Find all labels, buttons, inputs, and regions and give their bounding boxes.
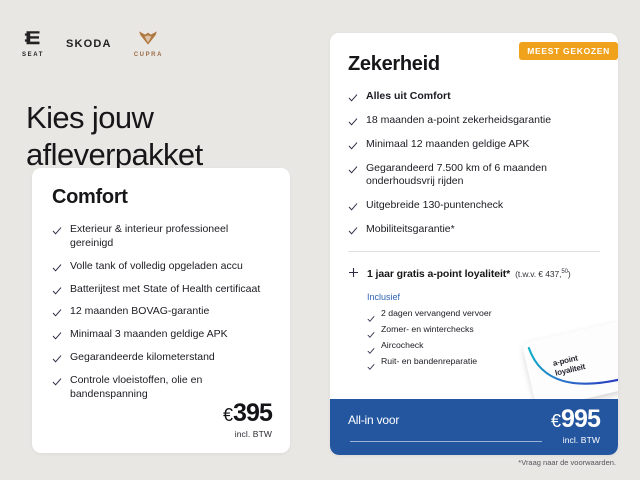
comfort-title: Comfort: [52, 186, 270, 209]
loyalty-value-suffix: ): [568, 269, 571, 279]
cupra-logo: CUPRA: [134, 30, 163, 58]
loyalty-value: (t.w.v. € 437,50): [515, 269, 570, 279]
zekerheid-feature-text: 18 maanden a-point zekerheidsgarantie: [366, 114, 551, 128]
comfort-feature-text: Volle tank of volledig opgeladen accu: [70, 260, 243, 274]
check-icon: [348, 117, 358, 127]
check-icon: [348, 165, 358, 175]
list-item: Gegarandeerde kilometerstand: [52, 351, 270, 365]
comfort-feature-text: Controle vloeistoffen, olie en bandenspa…: [70, 374, 270, 402]
list-item: Aircocheck: [367, 340, 600, 351]
check-icon: [52, 263, 62, 273]
check-icon: [367, 310, 375, 318]
skoda-logo-label: SKODA: [66, 39, 112, 50]
check-icon: [52, 331, 62, 341]
cupra-logo-icon: [138, 30, 158, 50]
all-in-label: All-in voor: [348, 413, 399, 427]
loyalty-title: 1 jaar gratis a-point loyaliteit*: [367, 268, 510, 280]
list-item: Uitgebreide 130-puntencheck: [348, 199, 600, 213]
zekerheid-package-card[interactable]: MEEST GEKOZEN Zekerheid Alles uit Comfor…: [330, 33, 618, 455]
included-item-text: Ruit- en bandenreparatie: [381, 356, 477, 367]
footer-inner: All-in voor €995 incl. BTW: [330, 399, 618, 455]
comfort-feature-text: Gegarandeerde kilometerstand: [70, 351, 215, 365]
included-item-text: Zomer- en winterchecks: [381, 324, 474, 335]
seat-logo: SEAT: [22, 30, 44, 58]
list-item: 18 maanden a-point zekerheidsgarantie: [348, 114, 600, 128]
list-item: Exterieur & interieur professioneel gere…: [52, 223, 270, 251]
comfort-price-amount: 395: [233, 399, 272, 427]
brand-logo-row: SEAT SKODA CUPRA: [22, 30, 163, 58]
included-list: 2 dagen vervangend vervoer Zomer- en win…: [367, 308, 600, 367]
comfort-feature-text: Batterijtest met State of Health certifi…: [70, 283, 260, 297]
check-icon: [348, 93, 358, 103]
zekerheid-card-body: Zekerheid Alles uit Comfort 18 maanden a…: [330, 33, 618, 367]
included-item-text: Aircocheck: [381, 340, 424, 351]
check-icon: [348, 202, 358, 212]
seat-logo-label: SEAT: [22, 52, 44, 58]
check-icon: [367, 358, 375, 366]
zekerheid-feature-text: Gegarandeerd 7.500 km of 6 maanden onder…: [366, 162, 600, 190]
included-label: Inclusief: [367, 292, 600, 302]
check-icon: [52, 226, 62, 236]
currency-symbol: €: [223, 405, 233, 425]
check-icon: [52, 286, 62, 296]
list-item: Gegarandeerd 7.500 km of 6 maanden onder…: [348, 162, 600, 190]
zekerheid-price-amount: 995: [561, 405, 600, 433]
included-block: Inclusief 2 dagen vervangend vervoer Zom…: [367, 292, 600, 367]
check-icon: [52, 308, 62, 318]
list-item: Mobiliteitsgarantie*: [348, 223, 600, 237]
currency-symbol: €: [551, 411, 561, 431]
list-item: Zomer- en winterchecks: [367, 324, 600, 335]
zekerheid-feature-text: Minimaal 12 maanden geldige APK: [366, 138, 529, 152]
check-icon: [348, 226, 358, 236]
included-item-text: 2 dagen vervangend vervoer: [381, 308, 492, 319]
zekerheid-price-note: incl. BTW: [551, 435, 600, 445]
zekerheid-feature-text: Mobiliteitsgarantie*: [366, 223, 455, 237]
comfort-feature-text: 12 maanden BOVAG-garantie: [70, 305, 209, 319]
comfort-feature-list: Exterieur & interieur professioneel gere…: [52, 223, 270, 402]
comfort-price-block: €395 incl. BTW: [223, 401, 272, 439]
comfort-package-card[interactable]: Comfort Exterieur & interieur profession…: [32, 168, 290, 453]
cupra-logo-label: CUPRA: [134, 52, 163, 58]
check-icon: [52, 377, 62, 387]
plus-icon: [348, 265, 359, 276]
comfort-price-note: incl. BTW: [223, 429, 272, 439]
skoda-logo: SKODA: [66, 39, 112, 50]
list-item: Volle tank of volledig opgeladen accu: [52, 260, 270, 274]
status-badge: MEEST GEKOZEN: [519, 42, 618, 60]
list-item: 12 maanden BOVAG-garantie: [52, 305, 270, 319]
list-item: 2 dagen vervangend vervoer: [367, 308, 600, 319]
comfort-card-body: Comfort Exterieur & interieur profession…: [32, 168, 290, 402]
list-item: Controle vloeistoffen, olie en bandenspa…: [52, 374, 270, 402]
loyalty-headline-row: 1 jaar gratis a-point loyaliteit*(t.w.v.…: [348, 264, 600, 282]
delivery-package-promo: SEAT SKODA CUPRA Kies jouw afleverpakket…: [0, 0, 640, 480]
footer-rule: [350, 441, 542, 442]
list-item: Minimaal 3 maanden geldige APK: [52, 328, 270, 342]
check-icon: [367, 326, 375, 334]
footnote-text: *Vraag naar de voorwaarden.: [518, 458, 616, 467]
comfort-price: €395: [223, 401, 272, 426]
zekerheid-price-block: €995 incl. BTW: [551, 407, 600, 445]
list-item: Batterijtest met State of Health certifi…: [52, 283, 270, 297]
loyalty-value-prefix: (t.w.v. € 437,: [515, 269, 561, 279]
page-title: Kies jouw afleverpakket: [26, 99, 296, 173]
list-item: Minimaal 12 maanden geldige APK: [348, 138, 600, 152]
zekerheid-feature-list: Alles uit Comfort 18 maanden a-point zek…: [348, 90, 600, 237]
zekerheid-price-footer: All-in voor €995 incl. BTW: [330, 399, 618, 455]
section-divider: [348, 251, 600, 252]
check-icon: [52, 354, 62, 364]
seat-logo-icon: [24, 30, 42, 50]
list-item: Ruit- en bandenreparatie: [367, 356, 600, 367]
check-icon: [367, 342, 375, 350]
zekerheid-feature-text: Alles uit Comfort: [366, 90, 451, 104]
list-item: Alles uit Comfort: [348, 90, 600, 104]
zekerheid-price: €995: [551, 407, 600, 432]
loyalty-title-wrap: 1 jaar gratis a-point loyaliteit*(t.w.v.…: [367, 264, 571, 282]
zekerheid-feature-text: Uitgebreide 130-puntencheck: [366, 199, 503, 213]
check-icon: [348, 141, 358, 151]
comfort-feature-text: Minimaal 3 maanden geldige APK: [70, 328, 228, 342]
comfort-feature-text: Exterieur & interieur professioneel gere…: [70, 223, 270, 251]
